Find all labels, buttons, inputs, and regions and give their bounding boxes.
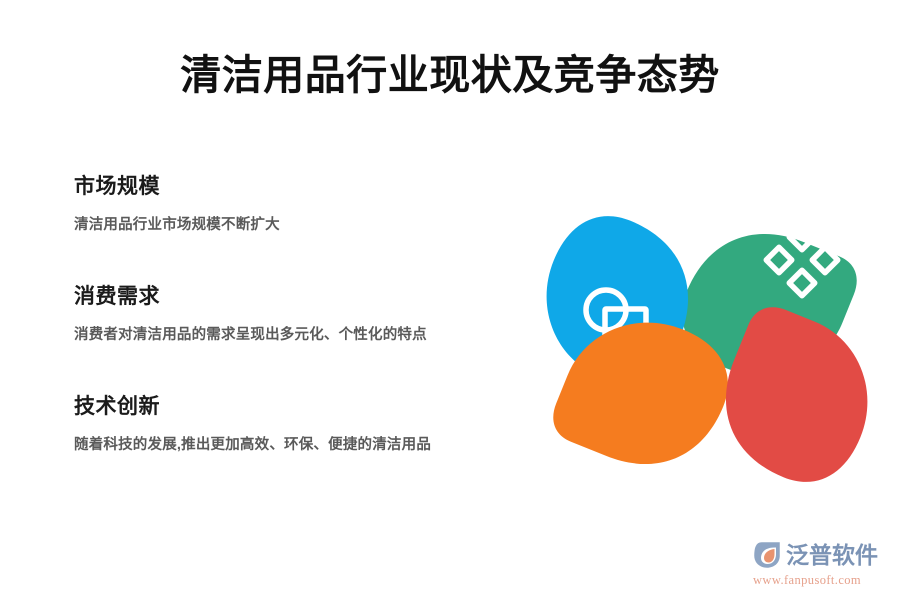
brand-name: 泛普软件 — [786, 540, 878, 570]
content-block-consumer-demand: 消费需求 消费者对清洁用品的需求呈现出多元化、个性化的特点 — [74, 282, 514, 346]
brand-logo: 泛普软件 www.fanpusoft.com — [752, 539, 892, 589]
content-block-tech-innovation: 技术创新 随着科技的发展,推出更加高效、环保、便捷的清洁用品 — [74, 392, 514, 456]
brand-logo-row: 泛普软件 — [752, 539, 892, 571]
section-heading: 市场规模 — [74, 172, 514, 202]
slide-canvas: 清洁用品行业现状及竞争态势 市场规模 清洁用品行业市场规模不断扩大 消费需求 消… — [0, 0, 900, 600]
brand-website: www.fanpusoft.com — [753, 572, 892, 588]
pie-chart-icon — [614, 468, 682, 536]
page-title: 清洁用品行业现状及竞争态势 — [0, 44, 900, 106]
petal-pinwheel-graphic — [536, 196, 884, 544]
content-block-market-size: 市场规模 清洁用品行业市场规模不断扩大 — [74, 172, 514, 236]
section-body: 消费者对清洁用品的需求呈现出多元化、个性化的特点 — [74, 324, 506, 346]
content-list: 市场规模 清洁用品行业市场规模不断扩大 消费需求 消费者对清洁用品的需求呈现出多… — [74, 172, 514, 456]
section-body: 清洁用品行业市场规模不断扩大 — [74, 214, 506, 236]
section-heading: 技术创新 — [74, 392, 514, 422]
section-heading: 消费需求 — [74, 282, 514, 312]
section-body: 随着科技的发展,推出更加高效、环保、便捷的清洁用品 — [74, 434, 506, 456]
fanpu-logo-icon — [752, 540, 782, 570]
